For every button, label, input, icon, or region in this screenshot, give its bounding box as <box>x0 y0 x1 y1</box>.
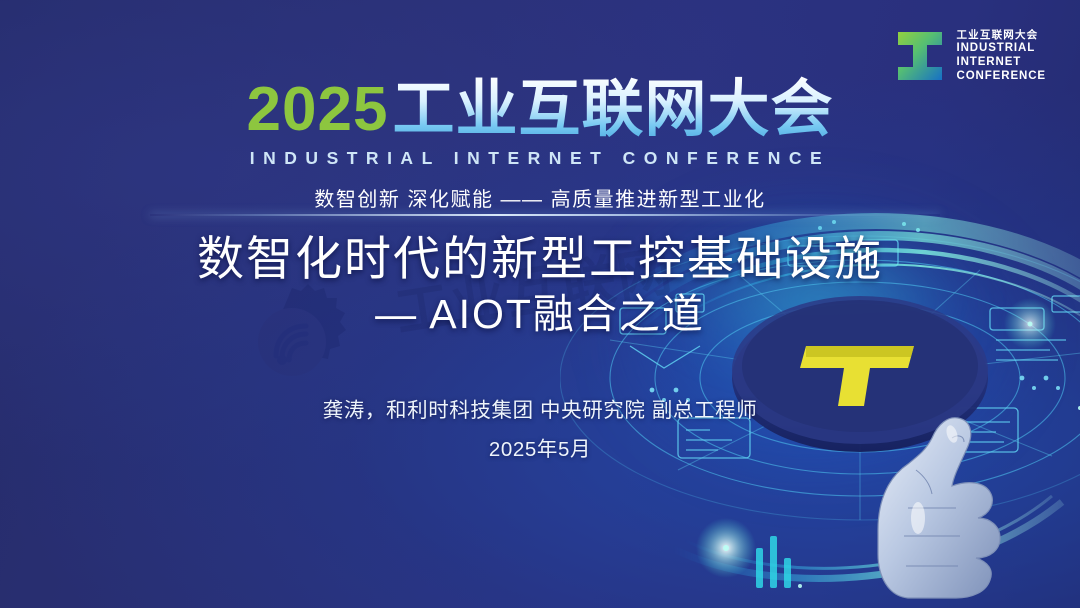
event-wordmark-block: 2025工业互联网大会 INDUSTRIAL INTERNET CONFEREN… <box>0 78 1080 212</box>
header-divider <box>150 214 940 216</box>
presentation-slide: 工业互联网 工业互联网大会 INDUSTRIAL INTERNET CONFER… <box>0 0 1080 608</box>
event-year: 2025 <box>247 75 389 144</box>
conference-logo: 工业互联网大会 INDUSTRIAL INTERNET CONFERENCE <box>894 28 1046 84</box>
presentation-title-block: 数智化时代的新型工控基础设施 — AIOT融合之道 <box>0 233 1080 338</box>
presentation-date: 2025年5月 <box>0 432 1080 462</box>
event-name-cn: 工业互联网大会 <box>392 75 833 144</box>
conference-logo-line-internet: INTERNET <box>956 55 1046 69</box>
event-name-en: INDUSTRIAL INTERNET CONFERENCE <box>0 148 1080 169</box>
gong-character-logo-icon <box>894 28 946 84</box>
presenter-block: 龚涛，和利时科技集团 中央研究院 副总工程师 2025年5月 <box>0 393 1080 462</box>
presenter-name-and-role: 龚涛，和利时科技集团 中央研究院 副总工程师 <box>0 393 1080 423</box>
presentation-title-line1: 数智化时代的新型工控基础设施 <box>0 233 1080 286</box>
event-wordmark: 2025工业互联网大会 <box>247 79 834 141</box>
event-slogan: 数智创新 深化赋能 —— 高质量推进新型工业化 <box>0 183 1080 212</box>
presentation-title-line2: — AIOT融合之道 <box>0 290 1080 338</box>
conference-logo-line-industrial: INDUSTRIAL <box>956 41 1046 55</box>
conference-logo-name-cn: 工业互联网大会 <box>956 29 1046 42</box>
